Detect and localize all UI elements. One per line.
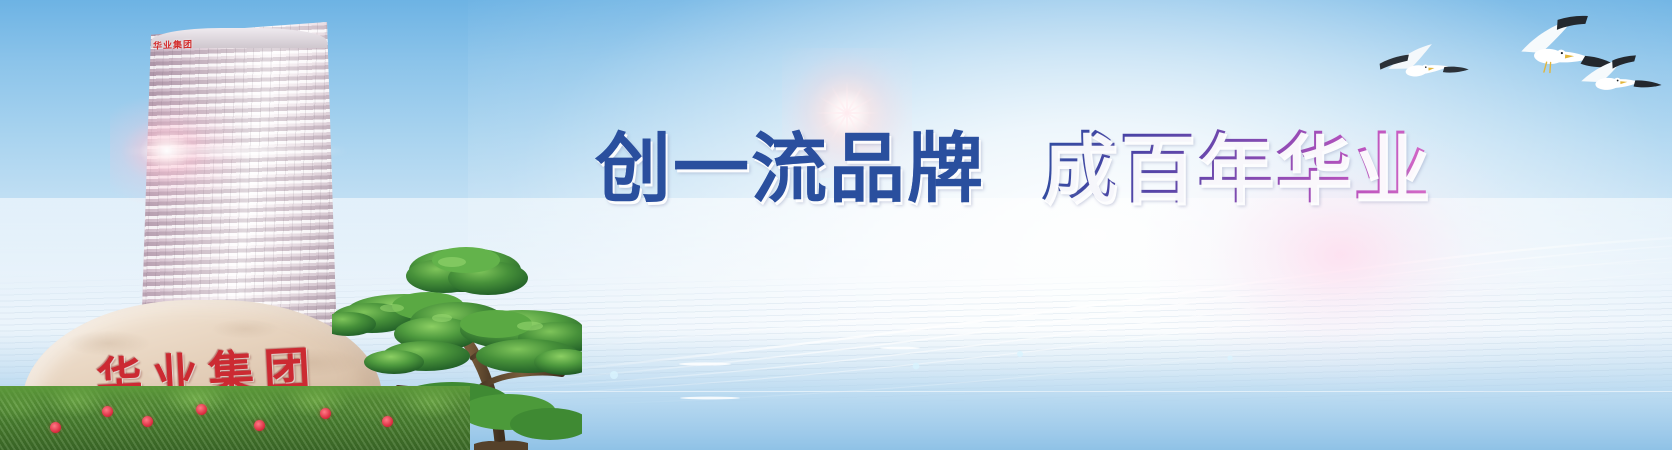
building-rooftop-sign: 华业集团 <box>153 37 193 52</box>
flower-icon <box>382 416 393 427</box>
flower-icon <box>142 416 153 427</box>
flower-icon <box>320 408 331 419</box>
lens-flare-streak <box>120 148 350 154</box>
flower-icon <box>254 420 265 431</box>
building-icon: 华业集团 <box>137 22 337 342</box>
seagull-group <box>1370 8 1670 123</box>
slogan-part-two: 成百年华业 <box>1041 128 1431 212</box>
seagull-icon <box>1378 41 1469 81</box>
hedge-texture <box>0 386 470 450</box>
banner-slogan: 创一流品牌 成百年华业 成百年华业 <box>595 132 1431 208</box>
flower-icon <box>196 404 207 415</box>
flower-icon <box>50 422 61 433</box>
slogan-part-one: 创一流品牌 <box>595 132 985 208</box>
flower-icon <box>102 406 113 417</box>
hedge-icon <box>0 386 470 450</box>
hero-banner: 华业集团 华业集团 <box>0 0 1672 450</box>
slogan-part-two-wrapper: 成百年华业 成百年华业 <box>1041 132 1431 208</box>
tower-mullions <box>137 22 337 342</box>
